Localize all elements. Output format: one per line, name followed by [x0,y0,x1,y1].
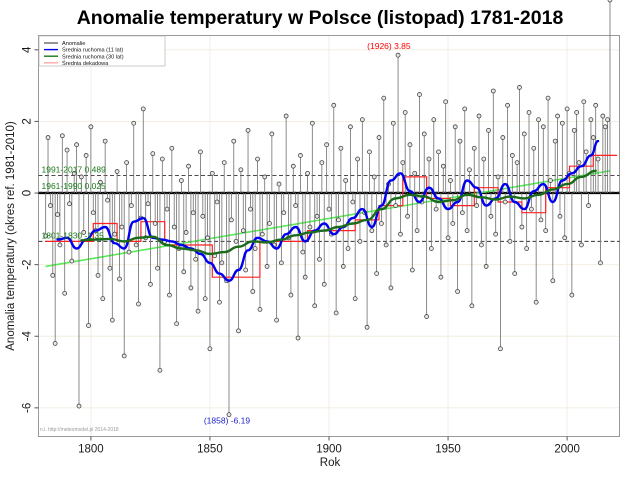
anomaly-marker [460,211,464,215]
anomaly-marker [296,336,300,340]
anomaly-marker [458,139,462,143]
anomaly-marker [175,322,179,326]
anomaly-marker [208,347,212,351]
anomaly-marker [158,368,162,372]
anomaly-marker [413,171,417,175]
y-tick-label: 4 [22,46,34,53]
anomaly-marker [179,179,183,183]
anomaly-marker [201,214,205,218]
anomaly-marker [79,175,83,179]
y-tick-label: -6 [22,403,34,413]
anomaly-marker [591,136,595,140]
anomaly-marker [503,200,507,204]
anomaly-marker [406,214,410,218]
anomaly-marker [313,304,317,308]
anomaly-marker [544,229,548,233]
anomaly-marker [170,146,174,150]
ref-1801-1830: 1801-1830 -1.35 [42,230,105,240]
anomaly-marker [237,329,241,333]
anomaly-marker [517,85,521,89]
anomaly-marker [553,139,557,143]
anomaly-marker [182,270,186,274]
anomaly-marker [525,247,529,251]
anomaly-marker [67,202,71,206]
anomaly-marker [265,264,269,268]
anomaly-marker [275,318,279,322]
anomaly-marker [91,211,95,215]
anomaly-marker [417,93,421,97]
anomaly-marker [527,110,531,114]
max-label: (1926) 3.85 [367,41,411,51]
anomaly-marker [584,150,588,154]
anomaly-marker [322,282,326,286]
anomaly-chart: Anomalie temperatury w Polsce (listopad)… [0,0,640,480]
anomaly-marker [215,200,219,204]
anomaly-marker [282,211,286,215]
anomaly-marker [241,229,245,233]
anomaly-marker [106,198,110,202]
anomaly-marker [310,121,314,125]
anomaly-marker [239,168,243,172]
anomaly-marker [246,128,250,132]
anomaly-marker [356,157,360,161]
anomaly-marker [598,261,602,265]
anomaly-marker [515,161,519,165]
anomaly-marker [160,157,164,161]
anomaly-marker [439,275,443,279]
anomaly-marker [398,232,402,236]
anomaly-marker [217,300,221,304]
anomaly-marker [510,153,514,157]
ref-1991-2017: 1991-2017 0.489 [42,165,107,175]
legend-label: Średnia ruchoma (30 lat) [62,52,124,60]
anomaly-marker [339,146,343,150]
anomaly-marker [475,204,479,208]
anomaly-marker [467,168,471,172]
anomaly-marker [341,264,345,268]
anomaly-marker [410,268,414,272]
anomaly-marker [479,243,483,247]
anomaly-marker [191,211,195,215]
anomaly-marker [391,121,395,125]
anomaly-marker [465,229,469,233]
anomaly-marker [58,243,62,247]
anomaly-marker [327,207,331,211]
anomaly-marker [396,53,400,57]
anomaly-marker [432,118,436,122]
anomaly-marker [498,347,502,351]
anomaly-marker [332,103,336,107]
anomaly-marker [394,204,398,208]
y-axis-label: Anomalia temperatury (okres ref. 1981-20… [5,121,17,351]
chart-legend: AnomalieŚrednia ruchoma (11 lat)Średnia … [39,36,165,67]
anomaly-marker [146,202,150,206]
anomaly-marker [172,225,176,229]
anomaly-marker [451,221,455,225]
anomaly-marker [56,213,60,217]
anomaly-marker [444,100,448,104]
anomaly-marker [77,404,81,408]
anomaly-marker [434,207,438,211]
anomaly-marker [258,307,262,311]
anomaly-marker [382,96,386,100]
anomaly-marker [415,229,419,233]
anomaly-marker [206,236,210,240]
anomaly-marker [87,324,91,328]
anomaly-marker [229,218,233,222]
anomaly-marker [196,309,200,313]
anomaly-marker [151,152,155,156]
anomaly-marker [279,261,283,265]
anomaly-marker [156,266,160,270]
anomaly-marker [134,243,138,247]
anomaly-marker [539,218,543,222]
anomaly-marker [494,232,498,236]
anomaly-marker [389,286,393,290]
anomaly-marker [220,261,224,265]
anomaly-marker [365,325,369,329]
anomaly-marker [565,107,569,111]
anomaly-marker [194,257,198,261]
anomaly-marker [108,266,112,270]
anomaly-marker [129,204,133,208]
anomaly-marker [606,118,610,122]
anomaly-marker [372,175,376,179]
anomaly-marker [441,164,445,168]
x-tick-label: 2000 [554,444,580,456]
anomaly-marker [608,0,612,2]
anomaly-marker [308,225,312,229]
anomaly-marker [320,161,324,165]
anomaly-marker [501,136,505,140]
anomaly-marker [248,207,252,211]
anomaly-marker [277,182,281,186]
anomaly-marker [529,207,533,211]
anomaly-marker [508,239,512,243]
anomaly-marker [403,110,407,114]
anomaly-marker [401,161,405,165]
legend-label: Anomalie [62,41,85,47]
anomaly-marker [84,153,88,157]
anomaly-marker [556,114,560,118]
anomaly-marker [537,118,541,122]
anomaly-marker [422,132,426,136]
anomaly-marker [137,302,141,306]
anomaly-marker [603,125,607,129]
min-label: (1858) -6.19 [204,416,251,426]
anomaly-marker [122,354,126,358]
x-tick-label: 1900 [316,444,342,456]
anomaly-marker [346,247,350,251]
anomaly-marker [496,175,500,179]
anomaly-marker [125,161,129,165]
anomaly-marker [101,297,105,301]
anomaly-marker [284,114,288,118]
anomaly-marker [367,150,371,154]
y-tick-label: -4 [22,331,34,342]
anomaly-marker [115,170,119,174]
anomaly-marker [546,96,550,100]
anomaly-marker [572,128,576,132]
anomaly-marker [463,107,467,111]
x-axis-label: Rok [320,457,341,469]
anomaly-marker [587,204,591,208]
legend-label: Średnia dekadowa [62,59,109,67]
anomaly-marker [294,204,298,208]
anomaly-marker [203,297,207,301]
anomaly-marker [260,232,264,236]
anomaly-marker [117,277,121,281]
anomaly-marker [110,318,114,322]
anomaly-marker [253,247,257,251]
anomaly-marker [63,291,67,295]
legend-label: Średnia ruchoma (11 lat) [62,46,123,54]
anomaly-marker [303,275,307,279]
anomaly-marker [256,157,260,161]
anomaly-marker [127,250,131,254]
anomaly-marker [477,114,481,118]
anomaly-marker [113,232,117,236]
anomaly-marker [153,221,157,225]
anomaly-marker [589,118,593,122]
anomaly-marker [377,136,381,140]
anomaly-marker [65,148,69,152]
anomaly-marker [251,289,255,293]
anomaly-marker [48,204,52,208]
anomaly-marker [289,293,293,297]
anomaly-marker [189,286,193,290]
watermark-text: n.l. http://meteomodel.pl 2014-2018 [40,427,119,433]
anomaly-marker [560,121,564,125]
anomaly-marker [89,125,93,129]
anomaly-marker [575,110,579,114]
anomaly-marker [232,139,236,143]
anomaly-marker [370,229,374,233]
anomaly-marker [532,146,536,150]
anomaly-marker [437,150,441,154]
anomaly-marker [60,134,64,138]
anomaly-marker [351,200,355,204]
anomaly-marker [513,272,517,276]
anomaly-marker [570,293,574,297]
anomaly-marker [317,257,321,261]
anomaly-marker [244,268,248,272]
x-tick-label: 1800 [78,444,104,456]
anomaly-marker [337,218,341,222]
anomaly-marker [222,161,226,165]
y-tick-label: 0 [22,190,34,196]
anomaly-marker [456,289,460,293]
anomaly-marker [148,282,152,286]
anomaly-marker [53,341,57,345]
anomaly-marker [263,175,267,179]
anomaly-marker [548,179,552,183]
anomaly-marker [358,239,362,243]
anomaly-marker [520,225,524,229]
anomaly-marker [315,214,319,218]
y-tick-label: -2 [22,260,34,270]
anomaly-marker [234,239,238,243]
anomaly-marker [46,136,50,140]
anomaly-marker [306,171,310,175]
anomaly-marker [425,315,429,319]
anomaly-marker [482,157,486,161]
anomaly-marker [103,139,107,143]
anomaly-marker [491,89,495,93]
anomaly-marker [448,179,452,183]
anomaly-marker [167,293,171,297]
anomaly-marker [427,157,431,161]
anomaly-marker [325,143,329,147]
anomaly-marker [70,259,74,263]
anomaly-marker [446,236,450,240]
anomaly-marker [453,125,457,129]
anomaly-marker [489,214,493,218]
anomaly-marker [429,247,433,251]
anomaly-marker [558,214,562,218]
anomaly-marker [375,272,379,276]
anomaly-marker [291,164,295,168]
anomaly-marker [506,103,510,107]
anomaly-marker [563,236,567,240]
anomaly-marker [187,164,191,168]
anomaly-marker [360,118,364,122]
anomaly-marker [267,221,271,225]
anomaly-marker [472,146,476,150]
anomaly-marker [601,114,605,118]
anomaly-marker [96,273,100,277]
y-tick-label: 2 [22,118,34,124]
anomaly-marker [541,125,545,129]
anomaly-marker [270,132,274,136]
anomaly-marker [210,171,214,175]
anomaly-marker [301,250,305,254]
anomaly-marker [51,273,55,277]
anomaly-marker [165,207,169,211]
anomaly-marker [522,132,526,136]
anomaly-marker [384,243,388,247]
anomaly-marker [582,100,586,104]
anomaly-marker [348,125,352,129]
anomaly-marker [577,161,581,165]
anomaly-marker [487,128,491,132]
chart-title: Anomalie temperatury w Polsce (listopad)… [77,7,564,29]
anomaly-marker [132,121,136,125]
anomaly-marker [594,103,598,107]
anomaly-marker [408,143,412,147]
anomaly-marker [334,311,338,315]
x-tick-label: 1850 [197,444,223,456]
anomaly-marker [551,279,555,283]
chart-container: Anomalie temperatury w Polsce (listopad)… [0,0,640,480]
anomaly-marker [120,225,124,229]
anomaly-marker [198,150,202,154]
anomaly-marker [579,243,583,247]
anomaly-marker [353,297,357,301]
anomaly-marker [379,221,383,225]
anomaly-marker [484,264,488,268]
anomaly-marker [596,157,600,161]
ref-1961-1990: 1961-1990 0.025 [42,181,107,191]
anomaly-marker [534,300,538,304]
anomaly-marker [141,107,145,111]
anomaly-marker [184,230,188,234]
x-tick-label: 1950 [435,444,461,456]
anomaly-marker [75,143,79,147]
anomaly-marker [470,304,474,308]
anomaly-marker [298,153,302,157]
anomaly-marker [344,179,348,183]
